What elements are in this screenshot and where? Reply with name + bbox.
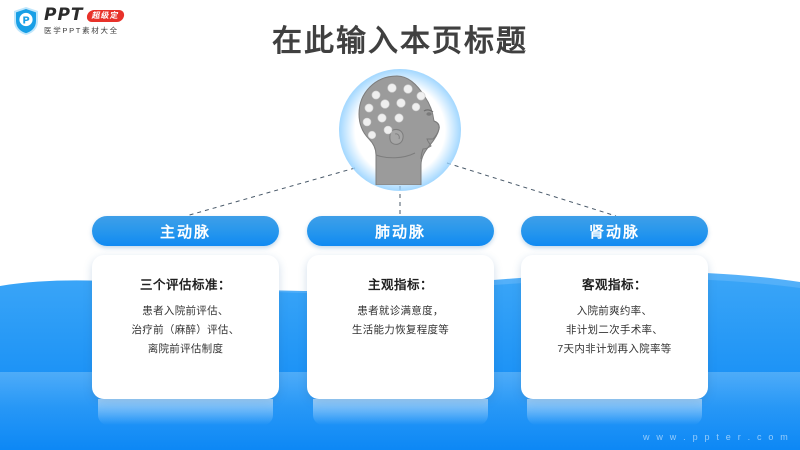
- brand-logo[interactable]: P PPT 超级定 医学PPT素材大全: [12, 6, 124, 36]
- card-line-2-2: 7天内非计划再入院率等: [521, 340, 708, 359]
- card-line-0-0: 患者入院前评估、: [92, 302, 279, 321]
- column-aorta: 主动脉 三个评估标准： 患者入院前评估、 治疗前（麻醉）评估、 离院前评估制度: [92, 216, 279, 399]
- watermark: w w w . p p t e r . c o m: [643, 432, 790, 442]
- logo-primary-row: PPT 超级定: [44, 7, 124, 24]
- card-line-2-1: 非计划二次手术率、: [521, 321, 708, 340]
- card-line-0-1: 治疗前（麻醉）评估、: [92, 321, 279, 340]
- column-header-0[interactable]: 主动脉: [92, 216, 279, 246]
- card-reflection-0: [98, 399, 273, 425]
- card-line-0-2: 离院前评估制度: [92, 340, 279, 359]
- column-card-2[interactable]: 客观指标： 入院前爽约率、 非计划二次手术率、 7天内非计划再入院率等: [521, 255, 708, 399]
- logo-text-block: PPT 超级定 医学PPT素材大全: [44, 7, 124, 35]
- column-header-2[interactable]: 肾动脉: [521, 216, 708, 246]
- card-title-0: 三个评估标准：: [92, 274, 279, 293]
- column-card-0[interactable]: 三个评估标准： 患者入院前评估、 治疗前（麻醉）评估、 离院前评估制度: [92, 255, 279, 399]
- shield-p-icon: P: [12, 6, 40, 36]
- column-renal-artery: 肾动脉 客观指标： 入院前爽约率、 非计划二次手术率、 7天内非计划再入院率等: [521, 216, 708, 399]
- logo-badge: 超级定: [85, 10, 124, 22]
- column-header-1[interactable]: 肺动脉: [307, 216, 494, 246]
- svg-text:P: P: [22, 16, 29, 27]
- logo-subtitle: 医学PPT素材大全: [44, 27, 124, 35]
- card-title-1: 主观指标：: [307, 274, 494, 293]
- card-line-1-0: 患者就诊满意度，: [307, 302, 494, 321]
- card-line-2-0: 入院前爽约率、: [521, 302, 708, 321]
- card-title-2: 客观指标：: [521, 274, 708, 293]
- card-reflection-1: [313, 399, 488, 425]
- logo-brand-text: PPT: [44, 7, 84, 24]
- card-reflection-2: [527, 399, 702, 425]
- column-header-label-1: 肺动脉: [375, 221, 426, 242]
- column-card-1[interactable]: 主观指标： 患者就诊满意度， 生活能力恢复程度等: [307, 255, 494, 399]
- card-line-1-1: 生活能力恢复程度等: [307, 321, 494, 340]
- column-header-label-2: 肾动脉: [589, 221, 640, 242]
- column-header-label-0: 主动脉: [160, 221, 211, 242]
- columns-container: 主动脉 三个评估标准： 患者入院前评估、 治疗前（麻醉）评估、 离院前评估制度 …: [0, 0, 800, 450]
- slide-canvas: P PPT 超级定 医学PPT素材大全 在此输入本页标题: [0, 0, 800, 450]
- column-pulmonary-artery: 肺动脉 主观指标： 患者就诊满意度， 生活能力恢复程度等: [307, 216, 494, 399]
